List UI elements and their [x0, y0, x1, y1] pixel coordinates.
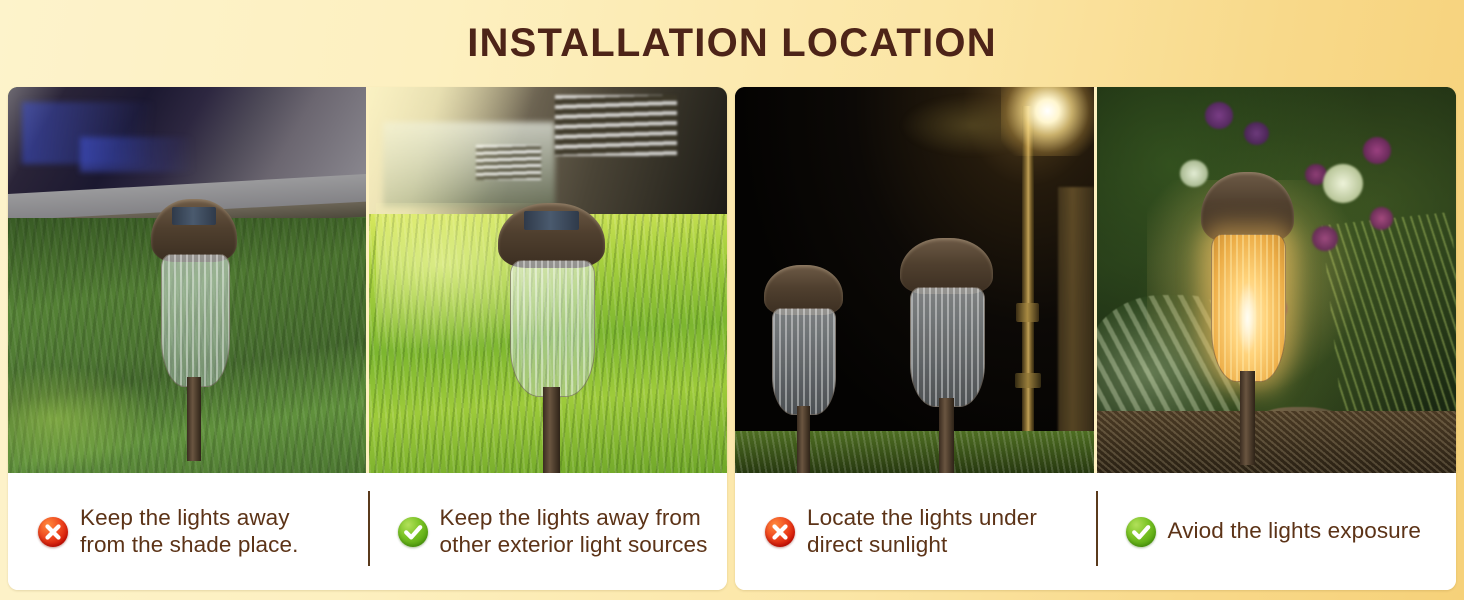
- check-circle-icon: [398, 517, 428, 547]
- street-lamp-collar-2: [1015, 373, 1041, 388]
- photo-path-lights-near-bright-street-lamp: [735, 87, 1094, 473]
- caption-item-direct-sunlight: Locate the lights under direct sunlight: [735, 473, 1096, 590]
- photo-glowing-lamp-in-dark-garden: [1094, 87, 1456, 473]
- lamp-post: [797, 406, 810, 473]
- photo-row: [8, 87, 727, 473]
- caption-text: Keep the lights away from the shade plac…: [80, 505, 298, 558]
- solar-path-light: [1201, 172, 1294, 465]
- check-circle-icon: [1126, 517, 1156, 547]
- caption-row: Locate the lights under direct sunlight …: [735, 473, 1456, 590]
- photo-solar-light-in-shaded-lawn: [8, 87, 366, 473]
- wall-blue-streak-2: [80, 137, 223, 172]
- page-title: INSTALLATION LOCATION: [0, 0, 1464, 86]
- white-hydrangea: [1323, 164, 1362, 203]
- lamp-filament: [1238, 283, 1257, 353]
- solar-path-light-left: [764, 265, 843, 473]
- caption-text: Keep the lights away from other exterior…: [440, 505, 708, 558]
- solar-path-light-right: [900, 238, 993, 473]
- lamp-post: [1240, 371, 1255, 465]
- solar-path-light: [151, 199, 237, 461]
- caption-text: Aviod the lights exposure: [1168, 518, 1422, 545]
- allium-flower: [1370, 207, 1393, 230]
- solar-panel: [172, 207, 217, 225]
- allium-flower: [1312, 226, 1337, 251]
- lamp-globe: [161, 254, 230, 387]
- infographic-page: INSTALLATION LOCATION: [0, 0, 1464, 600]
- solar-panel: [524, 211, 580, 230]
- street-lamp-collar: [1016, 303, 1039, 322]
- cross-circle-icon: [38, 517, 68, 547]
- lamp-post: [939, 398, 954, 473]
- street-lamp-glare: [1001, 87, 1094, 156]
- cross-circle-icon: [765, 517, 795, 547]
- caption-text: Locate the lights under direct sunlight: [807, 505, 1037, 558]
- caption-row: Keep the lights away from the shade plac…: [8, 473, 727, 590]
- lamp-cap: [1201, 172, 1294, 242]
- caption-item-keep-away-exterior-light: Keep the lights away from other exterior…: [368, 473, 728, 590]
- street-lamp-post: [1022, 106, 1034, 473]
- lamp-globe: [772, 308, 836, 414]
- lamp-post: [187, 377, 201, 461]
- allium-flower: [1244, 122, 1269, 145]
- lamp-post: [543, 387, 560, 473]
- lamp-globe: [510, 260, 596, 397]
- card-group-sunlight-vs-exposure: Locate the lights under direct sunlight …: [735, 87, 1456, 590]
- caption-item-keep-away-shade: Keep the lights away from the shade plac…: [8, 473, 368, 590]
- photo-row: [735, 87, 1456, 473]
- lamp-cap: [900, 238, 993, 295]
- lamp-cap: [764, 265, 843, 315]
- photo-solar-light-in-sunlit-lawn: [366, 87, 727, 473]
- sun-patch: [8, 365, 158, 473]
- lamp-globe: [910, 287, 985, 407]
- solar-path-light: [498, 203, 605, 473]
- card-group-shade-vs-exterior-light: Keep the lights away from the shade plac…: [8, 87, 727, 590]
- caption-item-avoid-exposure: Aviod the lights exposure: [1096, 473, 1457, 590]
